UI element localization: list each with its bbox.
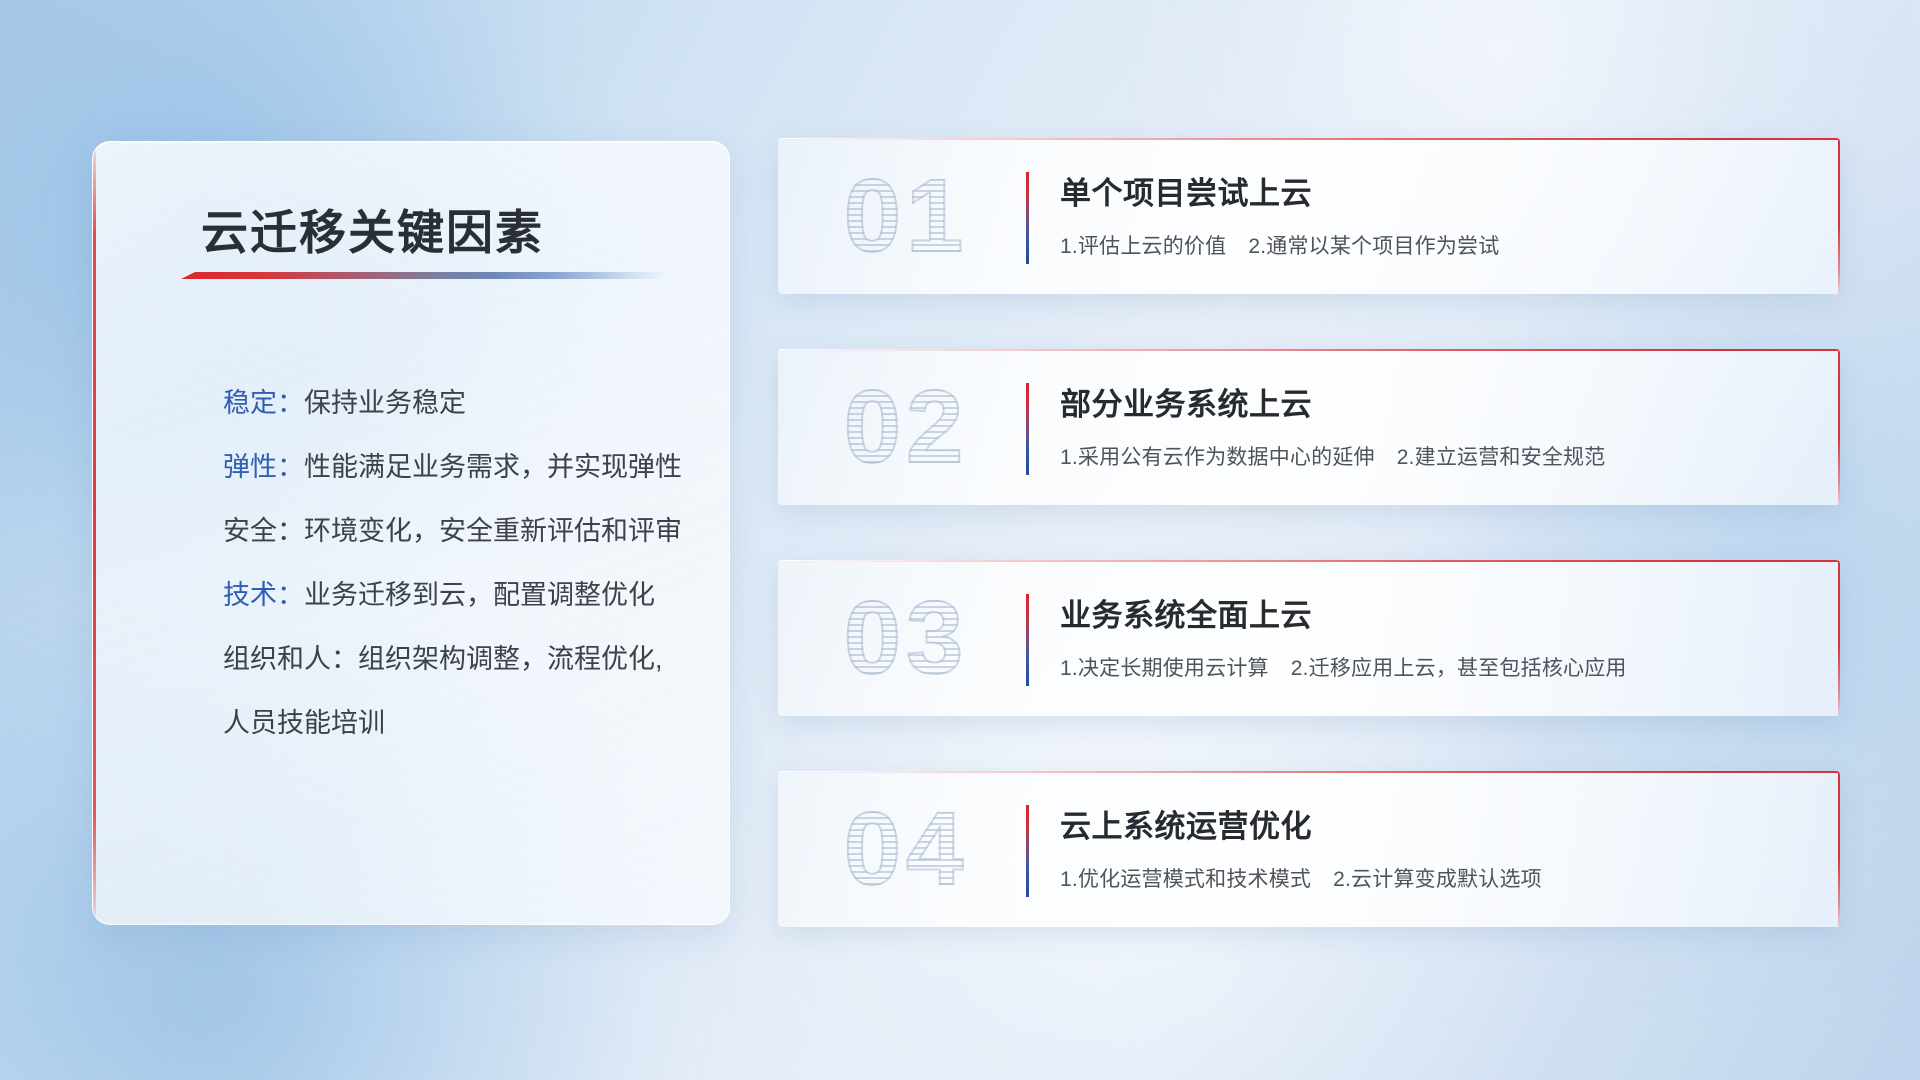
stage-title: 部分业务系统上云 — [1060, 379, 1312, 424]
list-item: 弹性：性能满足业务需求，并实现弹性 — [93, 454, 729, 481]
stage-number-04: 04 — [808, 789, 1004, 909]
list-item: 安全：环境变化，安全重新评估和评审 — [93, 518, 729, 545]
card-divider-bar — [1026, 383, 1029, 475]
list-item-label: 技术： — [223, 580, 304, 610]
card-right-edge-accent — [1838, 771, 1840, 927]
stage-subtitle-part-1: 1.优化运营模式和技术模式 — [1060, 868, 1311, 891]
stage-card-02[interactable]: 02 部分业务系统上云 1.采用公有云作为数据中心的延伸2.建立运营和安全规范 — [778, 349, 1840, 505]
card-top-edge-accent — [778, 138, 1840, 140]
list-item-label: 弹性： — [223, 452, 304, 482]
stage-title: 单个项目尝试上云 — [1060, 168, 1312, 213]
card-right-edge-accent — [1838, 138, 1840, 294]
list-item: 组织和人：组织架构调整，流程优化, — [93, 646, 729, 673]
list-item-text: 业务迁移到云，配置调整优化 — [304, 580, 655, 610]
list-item-label: 稳定： — [223, 388, 304, 418]
card-divider-bar — [1026, 172, 1029, 264]
list-item-label: 组织和人： — [223, 644, 358, 674]
card-right-edge-accent — [1838, 349, 1840, 505]
stage-subtitle: 1.采用公有云作为数据中心的延伸2.建立运营和安全规范 — [1060, 441, 1605, 471]
stage-subtitle-part-2: 2.通常以某个项目作为尝试 — [1248, 235, 1499, 258]
stage-subtitle-part-2: 2.迁移应用上云，甚至包括核心应用 — [1291, 657, 1627, 680]
card-top-edge-accent — [778, 349, 1840, 351]
list-item-text: 组织架构调整，流程优化, — [358, 644, 663, 674]
stage-subtitle-part-2: 2.建立运营和安全规范 — [1397, 446, 1606, 469]
stage-number-02: 02 — [808, 367, 1004, 487]
stage-card-04[interactable]: 04 云上系统运营优化 1.优化运营模式和技术模式2.云计算变成默认选项 — [778, 771, 1840, 927]
stage-subtitle: 1.优化运营模式和技术模式2.云计算变成默认选项 — [1060, 863, 1542, 893]
stage-subtitle: 1.评估上云的价值2.通常以某个项目作为尝试 — [1060, 230, 1499, 260]
card-divider-bar — [1026, 594, 1029, 686]
card-divider-bar — [1026, 805, 1029, 897]
stage-card-03[interactable]: 03 业务系统全面上云 1.决定长期使用云计算2.迁移应用上云，甚至包括核心应用 — [778, 560, 1840, 716]
list-item: 稳定：保持业务稳定 — [93, 390, 729, 417]
stage-subtitle: 1.决定长期使用云计算2.迁移应用上云，甚至包括核心应用 — [1060, 652, 1627, 682]
card-right-edge-accent — [1838, 560, 1840, 716]
list-item-text: 性能满足业务需求，并实现弹性 — [304, 452, 682, 482]
stage-title: 业务系统全面上云 — [1060, 590, 1312, 635]
stage-subtitle-part-2: 2.云计算变成默认选项 — [1333, 868, 1542, 891]
key-factors-list: 稳定：保持业务稳定 弹性：性能满足业务需求，并实现弹性 安全：环境变化，安全重新… — [93, 390, 729, 737]
list-item-text: 保持业务稳定 — [304, 388, 466, 418]
list-item-label: 安全： — [223, 516, 304, 546]
stage-card-01[interactable]: 01 单个项目尝试上云 1.评估上云的价值2.通常以某个项目作为尝试 — [778, 138, 1840, 294]
stage-subtitle-part-1: 1.采用公有云作为数据中心的延伸 — [1060, 446, 1375, 469]
migration-stages-list: 01 单个项目尝试上云 1.评估上云的价值2.通常以某个项目作为尝试 02 部分… — [778, 138, 1840, 927]
title-underline-rule — [181, 272, 665, 279]
list-item-text: 环境变化，安全重新评估和评审 — [304, 516, 682, 546]
stage-subtitle-part-1: 1.评估上云的价值 — [1060, 235, 1226, 258]
key-factors-panel: 云迁移关键因素 稳定：保持业务稳定 弹性：性能满足业务需求，并实现弹性 安全：环… — [92, 141, 730, 925]
card-top-edge-accent — [778, 560, 1840, 562]
list-item-continuation: 人员技能培训 — [93, 710, 729, 737]
slide-stage: 云迁移关键因素 稳定：保持业务稳定 弹性：性能满足业务需求，并实现弹性 安全：环… — [0, 0, 1920, 1080]
page-title: 云迁移关键因素 — [201, 194, 544, 263]
stage-number-03: 03 — [808, 578, 1004, 698]
list-item: 技术：业务迁移到云，配置调整优化 — [93, 582, 729, 609]
card-top-edge-accent — [778, 771, 1840, 773]
stage-subtitle-part-1: 1.决定长期使用云计算 — [1060, 657, 1269, 680]
stage-number-01: 01 — [808, 156, 1004, 276]
list-item-text: 人员技能培训 — [223, 708, 385, 738]
stage-title: 云上系统运营优化 — [1060, 801, 1312, 846]
